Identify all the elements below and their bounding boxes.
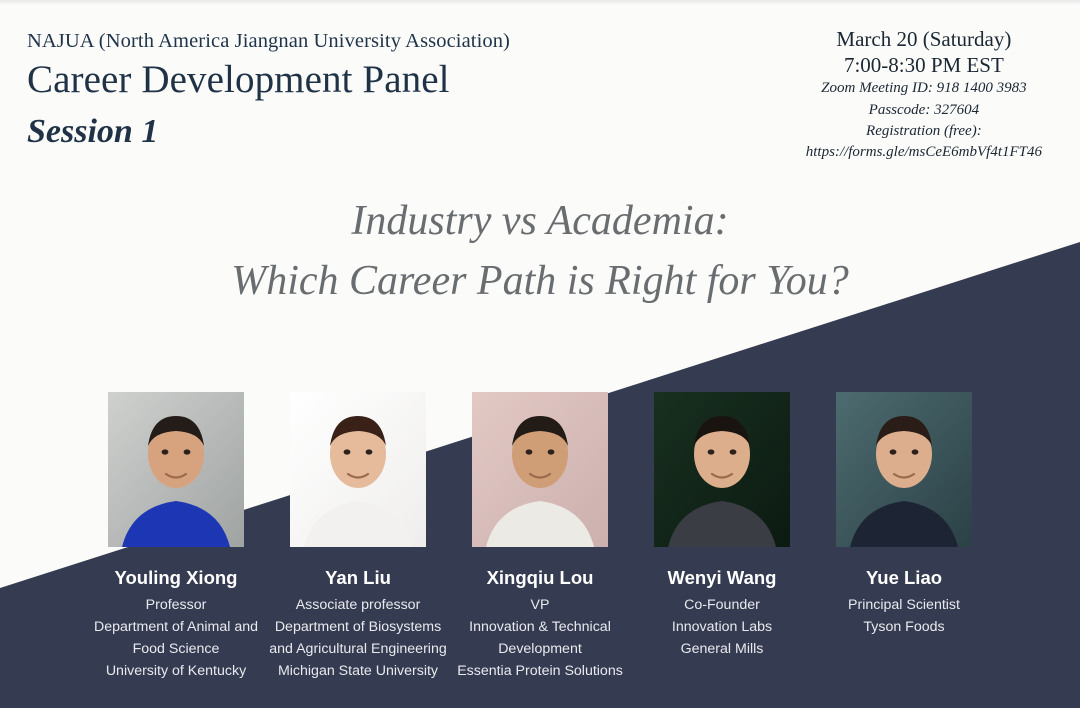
- speaker-photo-yan-liu: [290, 392, 426, 547]
- panel-title-line-2: Which Career Path is Right for You?: [0, 252, 1080, 312]
- speaker-name: Yan Liu: [325, 567, 391, 589]
- speaker-affiliation-line: Innovation & Technical: [457, 617, 623, 639]
- registration-link[interactable]: https://forms.gle/msCeE6mbVf4t1FT46: [806, 142, 1042, 163]
- speaker-name: Youling Xiong: [115, 567, 238, 589]
- speaker-affiliation-line: Department of Biosystems: [269, 617, 446, 639]
- speaker-photo-wenyi-wang: [654, 392, 790, 547]
- page-title: Career Development Panel: [27, 57, 450, 102]
- speaker-affiliation-line: Michigan State University: [269, 661, 446, 683]
- speaker-affiliation: Co-FounderInnovation LabsGeneral Mills: [672, 595, 772, 661]
- zoom-passcode: Passcode: 327604: [806, 100, 1042, 121]
- speaker-affiliation-line: Principal Scientist: [848, 595, 960, 617]
- speaker-card: Yan LiuAssociate professorDepartment of …: [267, 392, 449, 683]
- speaker-photo-xingqiu-lou: [472, 392, 608, 547]
- speaker-affiliation-line: General Mills: [672, 639, 772, 661]
- speaker-card: Wenyi WangCo-FounderInnovation LabsGener…: [631, 392, 813, 661]
- speaker-name: Xingqiu Lou: [487, 567, 594, 589]
- panel-title-line-1: Industry vs Academia:: [351, 198, 728, 244]
- speakers-row: Youling XiongProfessorDepartment of Anim…: [0, 392, 1080, 683]
- speaker-affiliation-line: Department of Animal and: [94, 617, 258, 639]
- event-info-block: March 20 (Saturday) 7:00-8:30 PM EST Zoo…: [806, 27, 1042, 163]
- panel-topic-title: Industry vs Academia: Which Career Path …: [0, 192, 1080, 311]
- speaker-affiliation-line: and Agricultural Engineering: [269, 639, 446, 661]
- speaker-affiliation: Principal ScientistTyson Foods: [848, 595, 960, 639]
- speaker-name: Wenyi Wang: [668, 567, 777, 589]
- organization-line: NAJUA (North America Jiangnan University…: [27, 30, 510, 53]
- event-time: 7:00-8:30 PM EST: [806, 53, 1042, 79]
- speaker-affiliation-line: Co-Founder: [672, 595, 772, 617]
- speaker-affiliation-line: University of Kentucky: [94, 661, 258, 683]
- speaker-card: Youling XiongProfessorDepartment of Anim…: [85, 392, 267, 683]
- speaker-affiliation: ProfessorDepartment of Animal andFood Sc…: [94, 595, 258, 682]
- speaker-affiliation-line: Essentia Protein Solutions: [457, 661, 623, 683]
- speaker-affiliation: VPInnovation & TechnicalDevelopmentEssen…: [457, 595, 623, 682]
- speaker-name: Yue Liao: [866, 567, 942, 589]
- poster-canvas: NAJUA (North America Jiangnan University…: [0, 0, 1080, 708]
- speaker-affiliation: Associate professorDepartment of Biosyst…: [269, 595, 446, 682]
- speaker-affiliation-line: Tyson Foods: [848, 617, 960, 639]
- speaker-affiliation-line: VP: [457, 595, 623, 617]
- session-label: Session 1: [27, 113, 158, 151]
- speaker-card: Xingqiu LouVPInnovation & TechnicalDevel…: [449, 392, 631, 683]
- top-edge-strip: [0, 0, 1080, 5]
- zoom-meeting-id: Zoom Meeting ID: 918 1400 3983: [806, 78, 1042, 99]
- event-date: March 20 (Saturday): [806, 27, 1042, 53]
- speaker-affiliation-line: Professor: [94, 595, 258, 617]
- speaker-affiliation-line: Innovation Labs: [672, 617, 772, 639]
- speaker-affiliation-line: Development: [457, 639, 623, 661]
- speaker-affiliation-line: Food Science: [94, 639, 258, 661]
- speaker-card: Yue LiaoPrincipal ScientistTyson Foods: [813, 392, 995, 639]
- speaker-affiliation-line: Associate professor: [269, 595, 446, 617]
- speaker-photo-youling-xiong: [108, 392, 244, 547]
- registration-label: Registration (free):: [806, 121, 1042, 142]
- speaker-photo-yue-liao: [836, 392, 972, 547]
